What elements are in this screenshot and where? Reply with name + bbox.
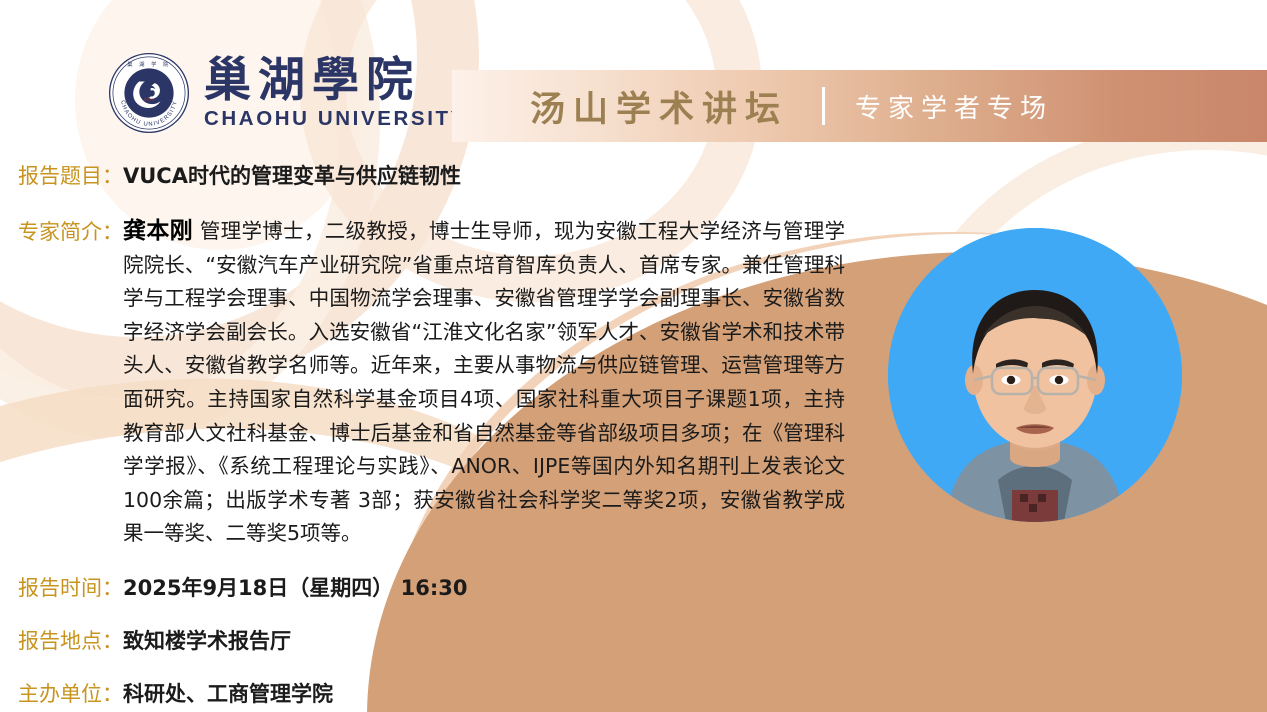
lecture-place-label: 报告地点：: [18, 625, 123, 655]
lecture-title-label: 报告题目：: [18, 160, 123, 190]
expert-bio-label: 专家简介：: [18, 215, 123, 249]
lecture-time-label: 报告时间：: [18, 572, 123, 602]
lecture-title-field: 报告题目： VUCA时代的管理变革与供应链韧性: [18, 160, 461, 190]
organizer-label: 主办单位：: [18, 678, 123, 708]
organizer-value: 科研处、工商管理学院: [123, 678, 333, 708]
lecture-place-value: 致知楼学术报告厅: [123, 625, 291, 655]
lecture-title-value: VUCA时代的管理变革与供应链韧性: [123, 160, 461, 190]
expert-bio-field: 专家简介： 龚本刚 管理学博士，二级教授，博士生导师，现为安徽工程大学经济与管理…: [18, 215, 878, 551]
speaker-portrait: [888, 228, 1182, 522]
expert-name: 龚本刚: [123, 218, 193, 244]
organizer-field: 主办单位： 科研处、工商管理学院: [18, 678, 333, 708]
lecture-time-value: 2025年9月18日（星期四） 16:30: [123, 572, 467, 602]
lecture-place-field: 报告地点： 致知楼学术报告厅: [18, 625, 291, 655]
expert-bio-paragraph: 管理学博士，二级教授，博士生导师，现为安徽工程大学经济与管理学院院长、“安徽汽车…: [123, 219, 845, 545]
poster: 1977 巢 湖 学 院 CHAOHU UNIVERSITY 巢湖學院 CHAO…: [0, 0, 1267, 712]
poster-content: 报告题目： VUCA时代的管理变革与供应链韧性 专家简介： 龚本刚 管理学博士，…: [0, 0, 1267, 712]
expert-bio-text: 龚本刚 管理学博士，二级教授，博士生导师，现为安徽工程大学经济与管理学院院长、“…: [123, 215, 845, 551]
lecture-time-field: 报告时间： 2025年9月18日（星期四） 16:30: [18, 572, 467, 602]
